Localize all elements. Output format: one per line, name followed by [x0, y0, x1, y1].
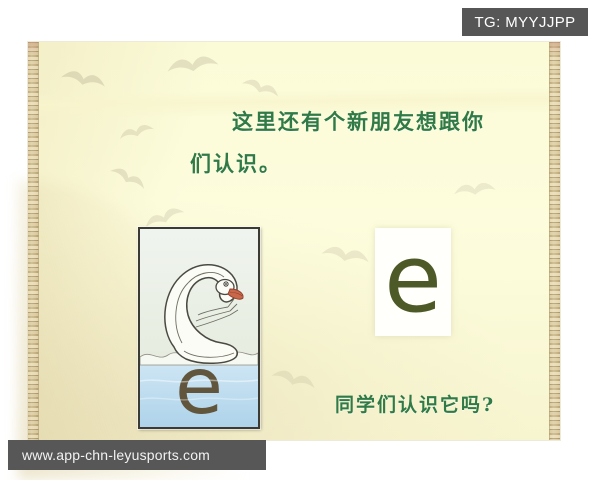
site-watermark-bar: www.app-chn-leyusports.com — [8, 440, 266, 470]
lesson-text-line-1: 这里还有个新朋友想跟你 — [232, 106, 485, 136]
screenshot-root: 这里还有个新朋友想跟你 们认识。 同学们认识它吗? — [0, 0, 600, 480]
bird-watermark-icon — [103, 160, 150, 200]
lesson-text-line-2: 们认识。 — [190, 148, 282, 178]
decorative-border-right — [549, 42, 560, 440]
letter-glyph: e — [384, 243, 442, 316]
lesson-question-text: 同学们认识它吗? — [335, 390, 495, 417]
bird-watermark-icon — [317, 239, 372, 277]
bird-watermark-icon — [266, 362, 319, 402]
bird-watermark-icon — [116, 118, 158, 149]
swan-illustration: e — [138, 227, 260, 429]
slide-page — [28, 42, 560, 440]
letter-card-e: e — [375, 228, 451, 336]
decorative-border-left — [28, 42, 39, 440]
bird-watermark-icon — [57, 63, 109, 100]
bird-watermark-icon — [164, 48, 222, 87]
telegram-watermark-badge: TG: MYYJJPP — [462, 8, 588, 36]
bird-watermark-icon — [452, 177, 499, 207]
bird-watermark-icon — [237, 72, 284, 109]
svg-text:e: e — [175, 342, 223, 427]
